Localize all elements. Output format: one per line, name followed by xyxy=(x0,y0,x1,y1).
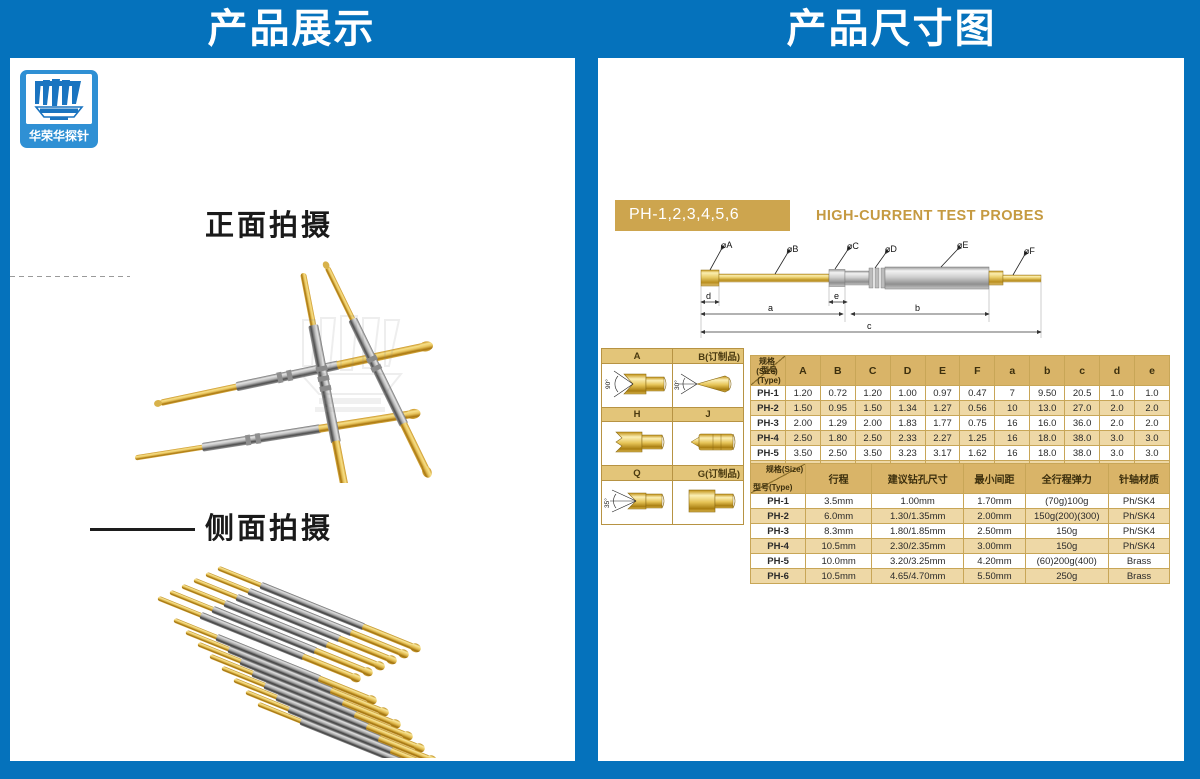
cell: 16 xyxy=(995,446,1030,461)
dimensions-body: PH-1,2,3,4,5,6 HIGH-CURRENT TEST PROBES xyxy=(598,58,1184,761)
spec2-corner-cell: 规格(Size) 型号(Type) xyxy=(751,464,806,494)
cell: Brass xyxy=(1108,554,1169,569)
spec1-corner-cell: 规格(Size) 型号(Type) xyxy=(751,356,786,386)
spec1-col-C: C xyxy=(855,356,890,386)
series-tag-row: PH-1,2,3,4,5,6 HIGH-CURRENT TEST PROBES xyxy=(615,200,1044,231)
dim-label-B: ⌀B xyxy=(787,244,798,254)
spec1-model: PH-4 xyxy=(751,431,786,446)
brand-logo[interactable]: 华荣华探针 xyxy=(18,68,100,150)
corner-size-label: 规格(Size) xyxy=(766,464,803,475)
cell: 1.20 xyxy=(855,386,890,401)
spec1-col-A: A xyxy=(785,356,820,386)
cell: Ph/SK4 xyxy=(1108,494,1169,509)
cell: 1.00mm xyxy=(872,494,964,509)
table-row: PH-1 1.20 0.72 1.20 1.00 0.97 0.47 7 9.5… xyxy=(751,386,1170,401)
table-row: PH-4 2.50 1.80 2.50 2.33 2.27 1.25 16 18… xyxy=(751,431,1170,446)
dim-label-e: e xyxy=(834,291,839,301)
cell: 0.47 xyxy=(960,386,995,401)
cell: 38.0 xyxy=(1065,446,1100,461)
gallery-title: 产品展示 xyxy=(208,9,376,49)
cell: 1.50 xyxy=(855,401,890,416)
cell: 250g xyxy=(1025,569,1108,584)
table-row: PH-2 1.50 0.95 1.50 1.34 1.27 0.56 10 13… xyxy=(751,401,1170,416)
cell: 3.50 xyxy=(855,446,890,461)
tip-shape-G xyxy=(673,481,744,525)
cell: 3.0 xyxy=(1134,446,1169,461)
spec1-header-row: 规格(Size) 型号(Type) A B C D E F a b c xyxy=(751,356,1170,386)
cell: 2.0 xyxy=(1134,416,1169,431)
svg-text:35°: 35° xyxy=(603,498,611,508)
corner-type-label: 型号(Type) xyxy=(753,482,792,493)
cell: 38.0 xyxy=(1065,431,1100,446)
gallery-header: 产品展示 xyxy=(0,0,583,58)
cell: (60)200g(400) xyxy=(1025,554,1108,569)
cell: 150g xyxy=(1025,539,1108,554)
spec1-model: PH-2 xyxy=(751,401,786,416)
cell: 1.25 xyxy=(960,431,995,446)
table-row: PH-1 3.5mm 1.00mm 1.70mm (70g)100g Ph/SK… xyxy=(751,494,1170,509)
table-row: PH-3 8.3mm 1.80/1.85mm 2.50mm 150g Ph/SK… xyxy=(751,524,1170,539)
spec1-head: 规格(Size) 型号(Type) A B C D E F a b c xyxy=(751,356,1170,386)
front-view-label: 正面拍摄 xyxy=(205,202,333,244)
cell: 1.77 xyxy=(925,416,960,431)
svg-text:30°: 30° xyxy=(673,380,681,390)
cell: 2.0 xyxy=(1100,416,1135,431)
spec2-model: PH-1 xyxy=(751,494,806,509)
spec2-model: PH-6 xyxy=(751,569,806,584)
cell: 5.50mm xyxy=(964,569,1025,584)
side-view-label: 侧面拍摄 xyxy=(205,505,333,547)
cell: 8.3mm xyxy=(806,524,872,539)
cell: 4.65/4.70mm xyxy=(872,569,964,584)
dim-label-E: ⌀E xyxy=(957,240,968,250)
table-row: PH-5 10.0mm 3.20/3.25mm 4.20mm (60)200g(… xyxy=(751,554,1170,569)
tip-shape-H xyxy=(602,422,673,466)
brand-name: 华荣华探针 xyxy=(29,127,89,144)
dim-label-C: ⌀C xyxy=(847,241,859,251)
cell: 1.80/1.85mm xyxy=(872,524,964,539)
table-row: PH-6 10.5mm 4.65/4.70mm 5.50mm 250g Bras… xyxy=(751,569,1170,584)
tip-header-A: A xyxy=(602,349,673,364)
table-row: PH-4 10.5mm 2.30/2.35mm 3.00mm 150g Ph/S… xyxy=(751,539,1170,554)
cell: 3.0 xyxy=(1100,446,1135,461)
gallery-body: 华荣华探针 正面拍摄 xyxy=(10,58,575,761)
cell: 36.0 xyxy=(1065,416,1100,431)
tip-shape-J xyxy=(673,422,744,466)
cell: 1.29 xyxy=(820,416,855,431)
cell: 16 xyxy=(995,431,1030,446)
cell: 16 xyxy=(995,416,1030,431)
cell: 1.0 xyxy=(1134,386,1169,401)
cell: 13.0 xyxy=(1030,401,1065,416)
spec1-col-e: e xyxy=(1134,356,1169,386)
cell: 2.50 xyxy=(855,431,890,446)
spec2-col-force: 全行程弹力 xyxy=(1025,464,1108,494)
cell: 2.50mm xyxy=(964,524,1025,539)
dimensions-title: 产品尺寸图 xyxy=(787,9,997,49)
cell: 150g(200)(300) xyxy=(1025,509,1108,524)
cell: 10 xyxy=(995,401,1030,416)
table-row: PH-5 3.50 2.50 3.50 3.23 3.17 1.62 16 18… xyxy=(751,446,1170,461)
spec2-model: PH-2 xyxy=(751,509,806,524)
spec2-head: 规格(Size) 型号(Type) 行程 建议钻孔尺寸 最小间距 全行程弹力 针… xyxy=(751,464,1170,494)
dimensions-header: 产品尺寸图 xyxy=(583,0,1200,58)
spec1-col-E: E xyxy=(925,356,960,386)
product-photo-front xyxy=(105,253,505,483)
cell: 0.97 xyxy=(925,386,960,401)
cell: 3.20/3.25mm xyxy=(872,554,964,569)
cell: 2.50 xyxy=(820,446,855,461)
cell: 16.0 xyxy=(1030,416,1065,431)
product-detail-page: 产品展示 xyxy=(0,0,1200,779)
cell: 18.0 xyxy=(1030,446,1065,461)
cell: Ph/SK4 xyxy=(1108,524,1169,539)
cell: 3.50 xyxy=(785,446,820,461)
tip-shape-Q: 35° xyxy=(602,481,673,525)
cell: 1.20 xyxy=(785,386,820,401)
dim-label-A: ⌀A xyxy=(721,240,732,250)
cell: (70g)100g xyxy=(1025,494,1108,509)
table-row: PH-3 2.00 1.29 2.00 1.83 1.77 0.75 16 16… xyxy=(751,416,1170,431)
spec1-model: PH-5 xyxy=(751,446,786,461)
spec1-col-F: F xyxy=(960,356,995,386)
dim-label-d: d xyxy=(706,291,711,301)
dim-label-F: ⌀F xyxy=(1024,246,1035,256)
tip-shape-B: 30° xyxy=(673,364,744,408)
spec2-col-stroke: 行程 xyxy=(806,464,872,494)
spec1-col-a: a xyxy=(995,356,1030,386)
tip-header-G: G(订制品) xyxy=(673,466,744,481)
product-photo-side xyxy=(140,558,490,758)
spec1-col-B: B xyxy=(820,356,855,386)
cell: 7 xyxy=(995,386,1030,401)
cell: 1.30/1.35mm xyxy=(872,509,964,524)
spec1-model: PH-3 xyxy=(751,416,786,431)
cell: 3.5mm xyxy=(806,494,872,509)
cell: 2.0 xyxy=(1134,401,1169,416)
cell: 27.0 xyxy=(1065,401,1100,416)
tip-header-J: J xyxy=(673,408,744,422)
spec2-col-pitch: 最小间距 xyxy=(964,464,1025,494)
cell: 0.75 xyxy=(960,416,995,431)
probe-dimension-drawing: ⌀A ⌀B ⌀C ⌀D ⌀E ⌀F xyxy=(683,234,1103,349)
spec1-model: PH-1 xyxy=(751,386,786,401)
performance-spec-table: 规格(Size) 型号(Type) 行程 建议钻孔尺寸 最小间距 全行程弹力 针… xyxy=(750,463,1170,584)
dim-label-D: ⌀D xyxy=(885,244,897,254)
cell: 10.0mm xyxy=(806,554,872,569)
cell: 0.72 xyxy=(820,386,855,401)
cell: Ph/SK4 xyxy=(1108,539,1169,554)
spec1-col-b: b xyxy=(1030,356,1065,386)
cell: 3.0 xyxy=(1134,431,1169,446)
cell: 2.00 xyxy=(855,416,890,431)
spec1-col-D: D xyxy=(890,356,925,386)
cell: 1.80 xyxy=(820,431,855,446)
dim-label-a: a xyxy=(768,303,773,313)
cell: 2.50 xyxy=(785,431,820,446)
cell: 3.17 xyxy=(925,446,960,461)
cell: 9.50 xyxy=(1030,386,1065,401)
tip-shape-A: 90° xyxy=(602,364,673,408)
tip-header-Q: Q xyxy=(602,466,673,481)
cell: 2.33 xyxy=(890,431,925,446)
cell: 0.56 xyxy=(960,401,995,416)
cell: Ph/SK4 xyxy=(1108,509,1169,524)
cell: 1.34 xyxy=(890,401,925,416)
spec2-header-row: 规格(Size) 型号(Type) 行程 建议钻孔尺寸 最小间距 全行程弹力 针… xyxy=(751,464,1170,494)
cell: 6.0mm xyxy=(806,509,872,524)
cell: 150g xyxy=(1025,524,1108,539)
series-code-badge: PH-1,2,3,4,5,6 xyxy=(615,200,790,231)
svg-text:90°: 90° xyxy=(604,379,612,389)
cell: 3.0 xyxy=(1100,431,1135,446)
cell: 2.00 xyxy=(785,416,820,431)
product-dimensions-panel: 产品尺寸图 PH-1,2,3,4,5,6 HIGH-CURRENT TEST P… xyxy=(583,0,1200,779)
series-subtitle: HIGH-CURRENT TEST PROBES xyxy=(816,208,1044,224)
cell: 3.23 xyxy=(890,446,925,461)
cell: 18.0 xyxy=(1030,431,1065,446)
spec2-model: PH-5 xyxy=(751,554,806,569)
spec2-col-drill: 建议钻孔尺寸 xyxy=(872,464,964,494)
tip-header-B: B(订制品) xyxy=(673,349,744,364)
cell: 1.0 xyxy=(1100,386,1135,401)
spec1-col-d: d xyxy=(1100,356,1135,386)
cell: 3.00mm xyxy=(964,539,1025,554)
cell: 2.00mm xyxy=(964,509,1025,524)
spec2-model: PH-3 xyxy=(751,524,806,539)
cell: Brass xyxy=(1108,569,1169,584)
cell: 2.27 xyxy=(925,431,960,446)
spec2-body: PH-1 3.5mm 1.00mm 1.70mm (70g)100g Ph/SK… xyxy=(751,494,1170,584)
dim-label-b: b xyxy=(915,303,920,313)
side-view-rule xyxy=(90,528,195,531)
spec2-col-material: 针轴材质 xyxy=(1108,464,1169,494)
cell: 2.30/2.35mm xyxy=(872,539,964,554)
tip-shape-table: A B(订制品) xyxy=(601,348,744,525)
cell: 20.5 xyxy=(1065,386,1100,401)
cell: 1.62 xyxy=(960,446,995,461)
cell: 1.50 xyxy=(785,401,820,416)
cell: 10.5mm xyxy=(806,569,872,584)
corner-type-label: 型号(Type) xyxy=(753,365,785,385)
cell: 1.70mm xyxy=(964,494,1025,509)
tip-header-H: H xyxy=(602,408,673,422)
cell: 1.27 xyxy=(925,401,960,416)
crown-mark-icon xyxy=(26,74,92,124)
table-row: PH-2 6.0mm 1.30/1.35mm 2.00mm 150g(200)(… xyxy=(751,509,1170,524)
cell: 0.95 xyxy=(820,401,855,416)
cell: 10.5mm xyxy=(806,539,872,554)
spec1-body: PH-1 1.20 0.72 1.20 1.00 0.97 0.47 7 9.5… xyxy=(751,386,1170,476)
cell: 1.00 xyxy=(890,386,925,401)
cell: 2.0 xyxy=(1100,401,1135,416)
spec2-model: PH-4 xyxy=(751,539,806,554)
product-gallery-panel: 产品展示 xyxy=(0,0,583,779)
dimension-spec-table: 规格(Size) 型号(Type) A B C D E F a b c xyxy=(750,355,1170,476)
cell: 1.83 xyxy=(890,416,925,431)
cell: 4.20mm xyxy=(964,554,1025,569)
dim-label-c: c xyxy=(867,321,872,331)
spec1-col-c: c xyxy=(1065,356,1100,386)
